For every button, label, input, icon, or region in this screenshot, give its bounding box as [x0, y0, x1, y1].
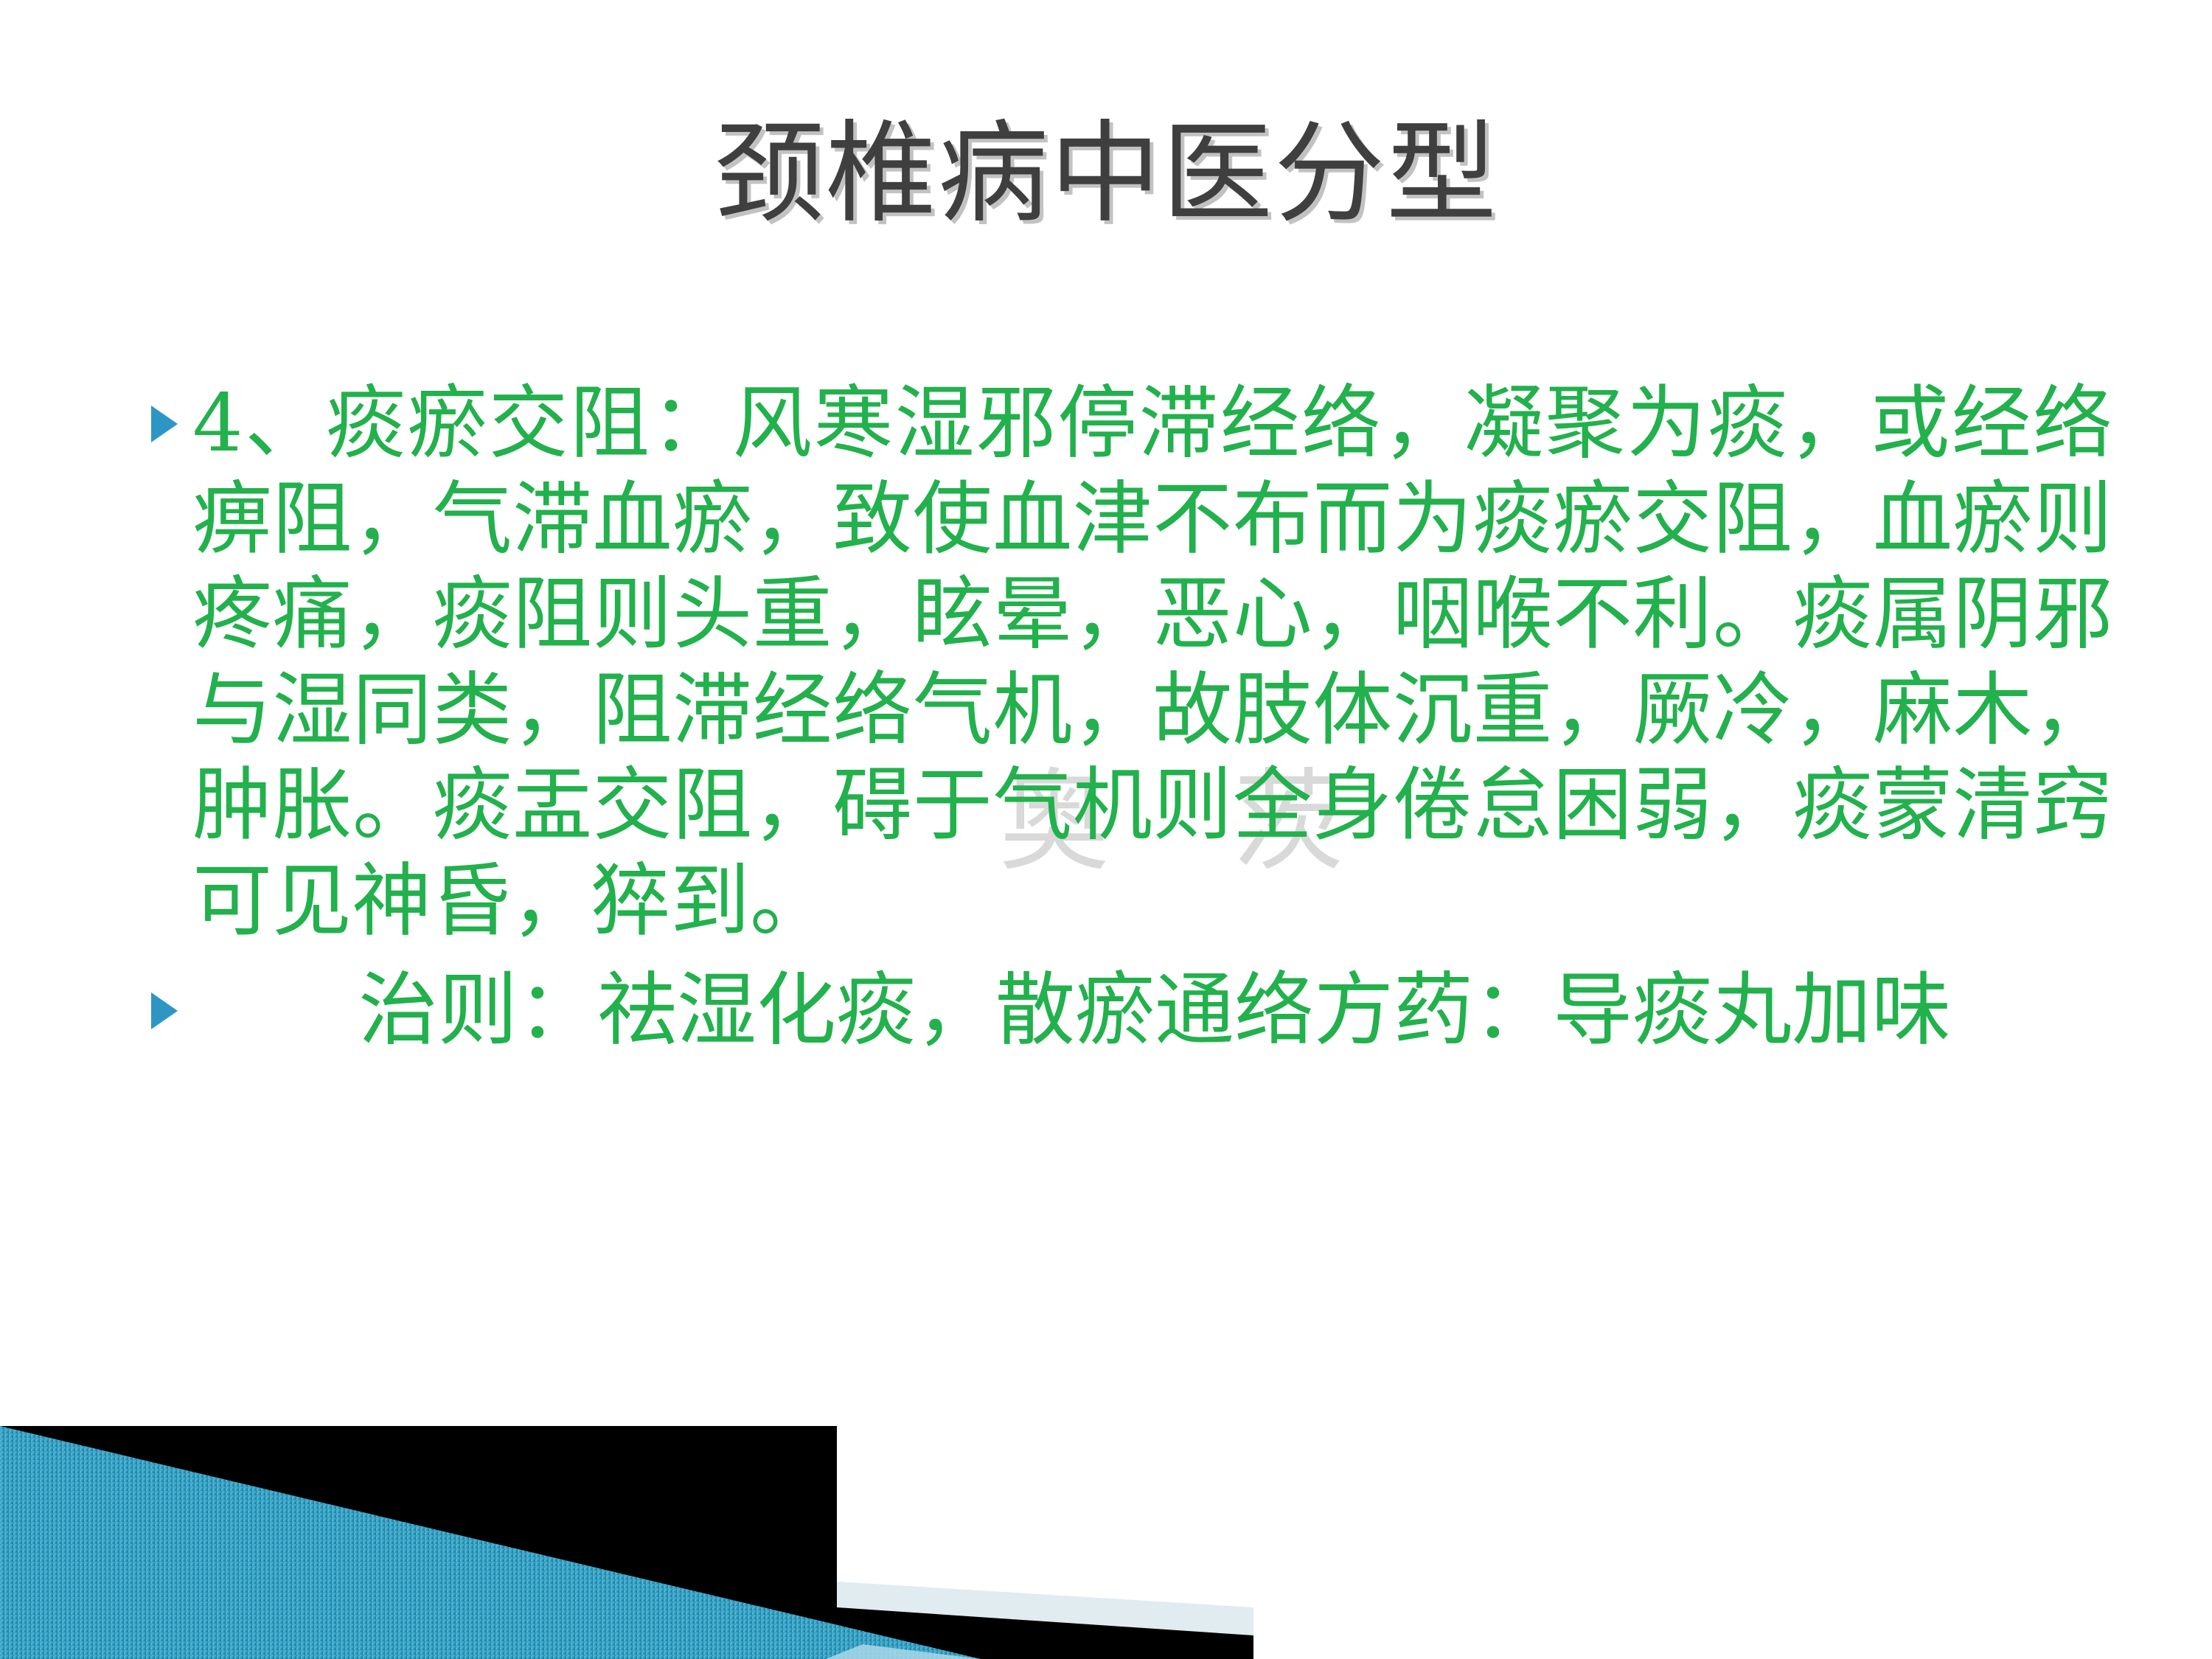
black-block-shape: [0, 1426, 837, 1659]
list-item[interactable]: 治则：祛湿化痰，散瘀通络方药：导痰丸加味: [151, 963, 2112, 1059]
teal-triangle-shape: [0, 1426, 981, 1659]
black-tail-shape: [837, 1607, 1253, 1659]
triangle-bullet-icon: [151, 376, 192, 442]
slide-body: 4、痰瘀交阻：风寒湿邪停滞经络，凝聚为痰，或经络痹阻，气滞血瘀，致使血津不布而为…: [151, 376, 2112, 1071]
bullet-paragraph-1: 4、痰瘀交阻：风寒湿邪停滞经络，凝聚为痰，或经络痹阻，气滞血瘀，致使血津不布而为…: [192, 376, 2112, 950]
bottom-decoration: [0, 1394, 1253, 1659]
slide-canvas: 颈椎病中医分型 奥 茨 4、痰瘀交阻：风寒湿邪停滞经络，凝聚为痰，或经络痹阻，气…: [0, 0, 2212, 1659]
triangle-bullet-icon: [151, 963, 192, 1029]
pale-band-shape: [837, 1582, 1253, 1659]
bullet-paragraph-2: 治则：祛湿化痰，散瘀通络方药：导痰丸加味: [358, 964, 1951, 1057]
bullet-paragraph-2-wrapper: 治则：祛湿化痰，散瘀通络方药：导痰丸加味: [192, 963, 2112, 1059]
list-item[interactable]: 4、痰瘀交阻：风寒湿邪停滞经络，凝聚为痰，或经络痹阻，气滞血瘀，致使血津不布而为…: [151, 376, 2112, 950]
page-title: 颈椎病中医分型: [0, 111, 2212, 238]
teal-edge-highlight: [826, 1644, 981, 1659]
